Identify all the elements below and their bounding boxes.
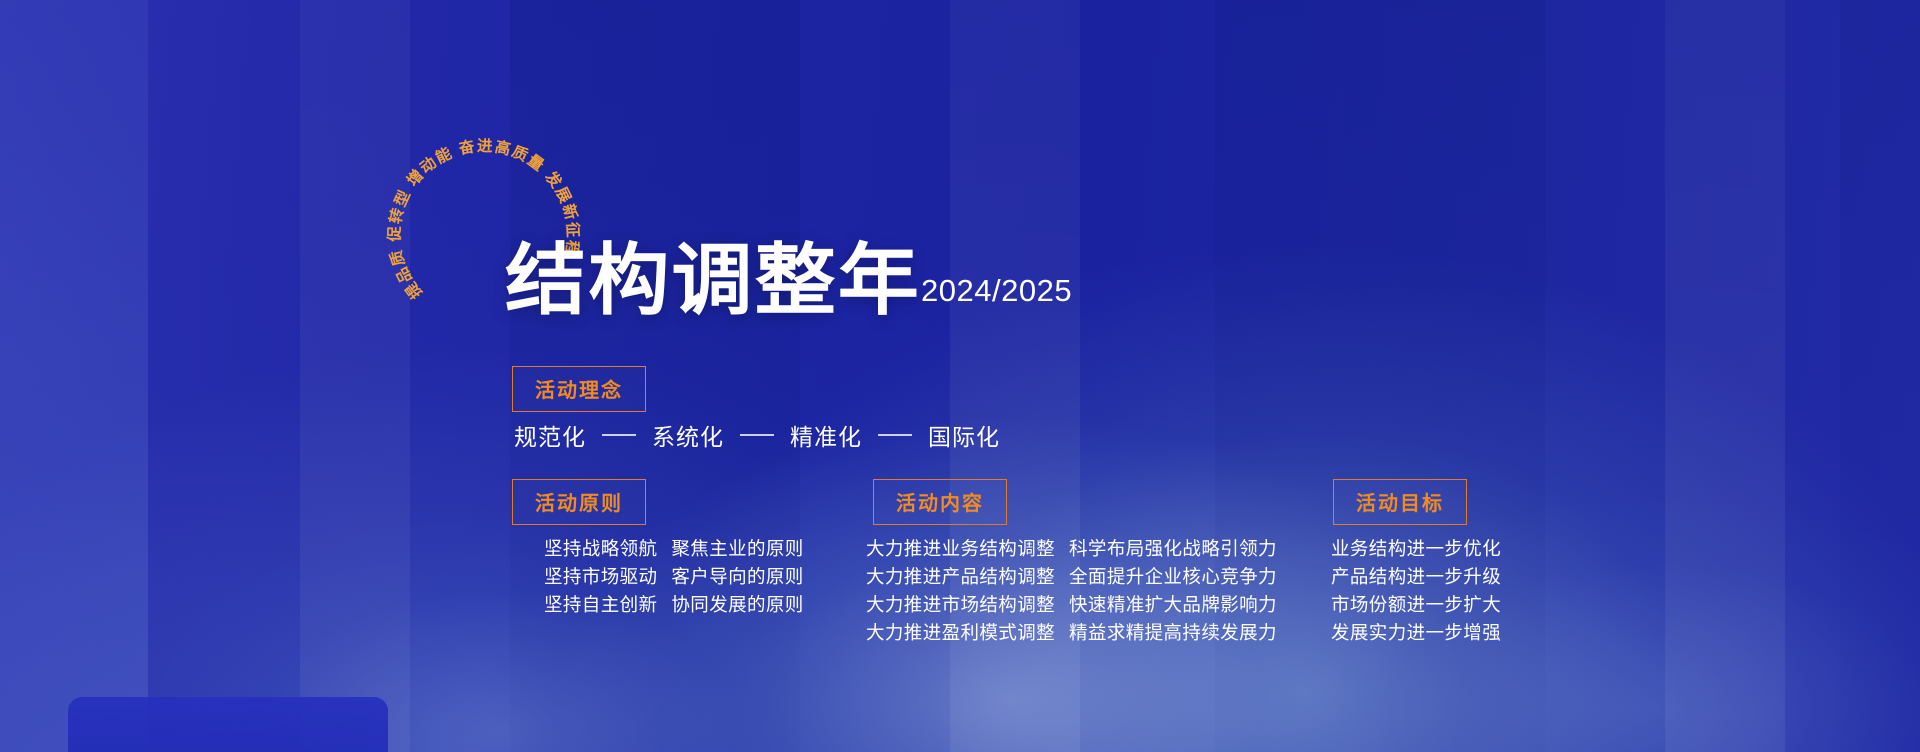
- list-item-secondary: 协同发展的原则: [671, 592, 803, 620]
- list-item-secondary: 全面提升企业核心竞争力: [1069, 564, 1277, 592]
- list-item: 坚持自主创新 协同发展的原则: [544, 592, 804, 620]
- list-item-primary: 大力推进盈利模式调整: [866, 620, 1055, 648]
- list-item: 大力推进业务结构调整 科学布局强化战略引领力: [866, 536, 1277, 564]
- list-item-primary: 业务结构进一步优化: [1331, 536, 1501, 564]
- headline-year: 2024/2025: [921, 273, 1072, 318]
- list-item-primary: 市场份额进一步扩大: [1331, 592, 1501, 620]
- separator-dash-icon: [878, 434, 912, 436]
- campaign-banner: 提品质 促转型 增动能 奋进高质量 发展新征程 结构调整年 2024/2025 …: [0, 0, 1920, 752]
- badge-activity-goal[interactable]: 活动目标: [1333, 479, 1467, 525]
- list-item-primary: 大力推进业务结构调整: [866, 536, 1055, 564]
- list-item-primary: 大力推进市场结构调整: [866, 592, 1055, 620]
- list-activity-goal: 业务结构进一步优化 产品结构进一步升级 市场份额进一步扩大 发展实力进一步增强: [1331, 536, 1501, 648]
- page-title: 结构调整年: [505, 246, 921, 318]
- list-item-primary: 坚持市场驱动: [544, 564, 657, 592]
- list-item: 坚持战略领航 聚焦主业的原则: [544, 536, 804, 564]
- list-item-secondary: 聚焦主业的原则: [671, 536, 803, 564]
- list-item-secondary: 快速精准扩大品牌影响力: [1069, 592, 1277, 620]
- list-item: 发展实力进一步增强: [1331, 620, 1501, 648]
- list-item: 大力推进市场结构调整 快速精准扩大品牌影响力: [866, 592, 1277, 620]
- badge-activity-content[interactable]: 活动内容: [873, 479, 1007, 525]
- concept-keyword: 精准化: [788, 418, 864, 452]
- separator-dash-icon: [602, 434, 636, 436]
- list-item-secondary: 客户导向的原则: [671, 564, 803, 592]
- list-item: 大力推进盈利模式调整 精益求精提高持续发展力: [866, 620, 1277, 648]
- list-activity-content: 大力推进业务结构调整 科学布局强化战略引领力 大力推进产品结构调整 全面提升企业…: [866, 536, 1277, 648]
- list-item: 坚持市场驱动 客户导向的原则: [544, 564, 804, 592]
- concept-keyword: 规范化: [512, 418, 588, 452]
- list-item-primary: 坚持战略领航: [544, 536, 657, 564]
- headline: 结构调整年 2024/2025: [505, 246, 1072, 318]
- badge-activity-concept[interactable]: 活动理念: [512, 366, 646, 412]
- list-item-primary: 大力推进产品结构调整: [866, 564, 1055, 592]
- list-item-primary: 产品结构进一步升级: [1331, 564, 1501, 592]
- list-item-primary: 发展实力进一步增强: [1331, 620, 1501, 648]
- concept-keyword: 国际化: [926, 418, 1002, 452]
- concept-keyword: 系统化: [650, 418, 726, 452]
- list-item: 产品结构进一步升级: [1331, 564, 1501, 592]
- list-item: 大力推进产品结构调整 全面提升企业核心竞争力: [866, 564, 1277, 592]
- badge-activity-principle[interactable]: 活动原则: [512, 479, 646, 525]
- list-item-secondary: 科学布局强化战略引领力: [1069, 536, 1277, 564]
- list-item: 市场份额进一步扩大: [1331, 592, 1501, 620]
- concept-keyword-list: 规范化 系统化 精准化 国际化: [512, 418, 1002, 452]
- list-item-primary: 坚持自主创新: [544, 592, 657, 620]
- list-item: 业务结构进一步优化: [1331, 536, 1501, 564]
- list-item-secondary: 精益求精提高持续发展力: [1069, 620, 1277, 648]
- list-activity-principle: 坚持战略领航 聚焦主业的原则 坚持市场驱动 客户导向的原则 坚持自主创新 协同发…: [544, 536, 804, 620]
- separator-dash-icon: [740, 434, 774, 436]
